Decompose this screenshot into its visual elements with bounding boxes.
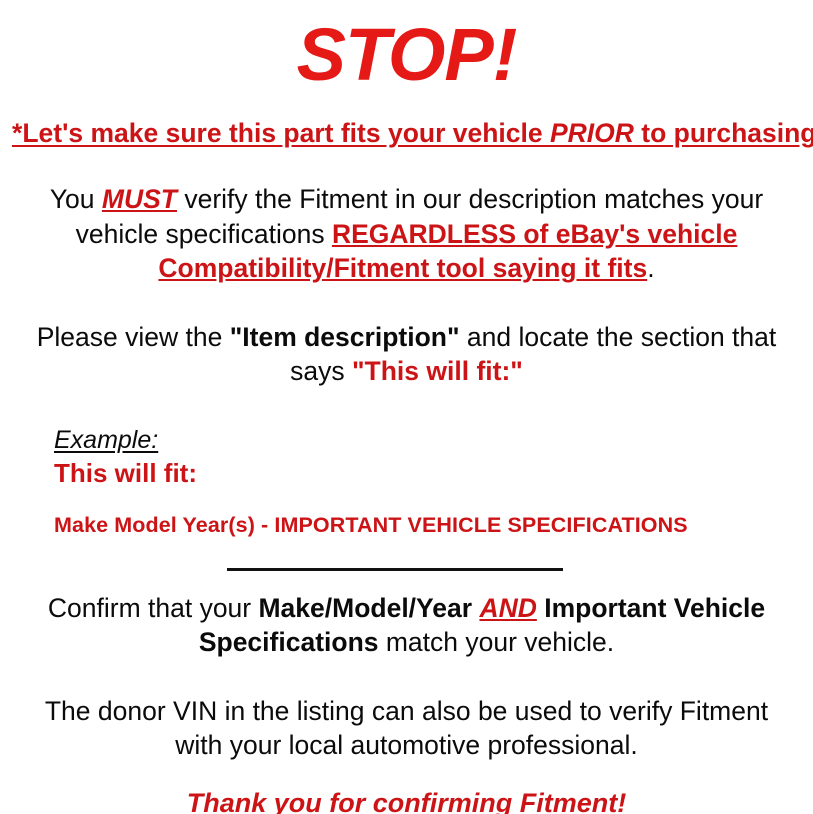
this-will-fit-emphasis: "This will fit:": [352, 356, 523, 386]
confirm-paragraph: Confirm that your Make/Model/Year AND Im…: [12, 591, 801, 660]
must-emphasis: MUST: [102, 184, 177, 214]
make-model-year-emphasis: Make/Model/Year: [258, 593, 472, 623]
must-paragraph-seg1: You: [50, 184, 102, 214]
thanks-message: Thank you for confirming Fitment!: [12, 787, 801, 814]
example-block: Example: This will fit: Make Model Year(…: [12, 425, 801, 539]
tagline-suffix: to purchasing*: [634, 118, 813, 148]
item-description-emphasis: "Item description": [230, 322, 460, 352]
confirm-paragraph-seg2: match your vehicle.: [379, 627, 615, 657]
example-fit-heading: This will fit:: [54, 457, 801, 490]
vin-paragraph: The donor VIN in the listing can also be…: [12, 694, 801, 763]
tagline-emphasis: PRIOR: [550, 118, 634, 148]
fitment-notice-card: STOP! *Let's make sure this part fits yo…: [0, 0, 813, 814]
tagline-prefix: *Let's make sure this part fits your veh…: [12, 118, 550, 148]
divider-wrap: [12, 561, 801, 571]
page-title: STOP!: [12, 18, 801, 92]
must-paragraph: You MUST verify the Fitment in our descr…: [12, 182, 801, 285]
view-paragraph: Please view the "Item description" and l…: [12, 320, 801, 389]
view-paragraph-seg1: Please view the: [37, 322, 230, 352]
confirm-paragraph-seg1: Confirm that your: [48, 593, 259, 623]
must-paragraph-seg3: .: [647, 253, 654, 283]
tagline: *Let's make sure this part fits your veh…: [12, 118, 801, 148]
example-spec-line: Make Model Year(s) - IMPORTANT VEHICLE S…: [54, 513, 801, 539]
notice-content: STOP! *Let's make sure this part fits yo…: [0, 18, 813, 814]
and-emphasis: AND: [479, 593, 536, 623]
section-divider: [227, 568, 563, 571]
example-label: Example:: [54, 425, 801, 455]
